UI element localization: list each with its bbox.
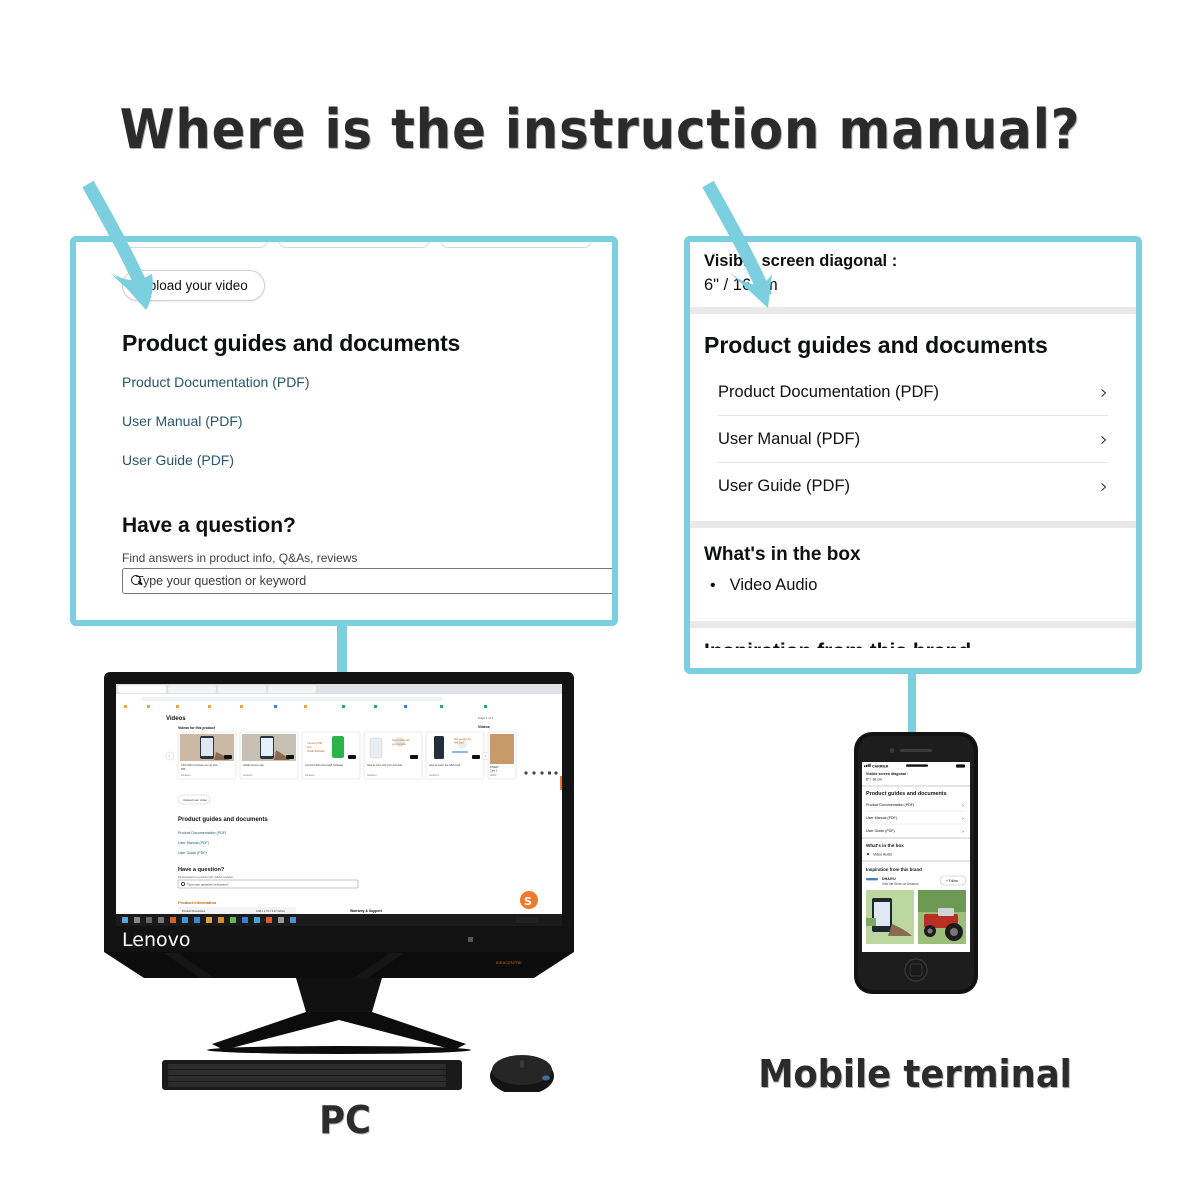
svg-text:AMAZ: AMAZ [490,774,497,777]
connector-stem-pc [337,626,347,678]
svg-text:How to insert the: How to insert the [454,738,472,741]
svg-text:User Guide (PDF): User Guide (PDF) [178,851,207,855]
svg-text:Product Documentation (PDF): Product Documentation (PDF) [178,831,226,835]
inspiration-heading-cutoff: Inspiration from this brand [690,628,1136,648]
mouse [490,1055,554,1092]
svg-text:Amazon: Amazon [429,773,439,777]
whats-in-the-box-heading: What's in the box [690,528,1136,574]
pc-link-user-guide[interactable]: User Guide (PDF) [122,452,310,468]
svg-text:Amazon: Amazon [305,773,315,777]
svg-text:DHAIYU: DHAIYU [882,877,896,881]
pc-link-product-documentation[interactable]: Product Documentation (PDF) [122,374,310,390]
chevron-right-icon: › [1100,429,1108,449]
svg-text:Upload your video: Upload your video [183,798,208,802]
svg-text:Inspiration from this brand: Inspiration from this brand [866,867,922,872]
svg-text:Wifi: Wifi [181,767,186,771]
connector-stem-mobile [908,674,916,736]
svg-text:Connect Wifi: Connect Wifi [307,741,322,745]
svg-text:Videos for this product: Videos for this product [178,726,216,730]
svg-text:Card 2: Card 2 [490,770,498,773]
svg-text:How to print with your termina: How to print with your terminal [367,763,402,767]
page-title: Where is the instruction manual? [48,98,1152,161]
svg-text:Warranty & Support: Warranty & Support [350,909,383,913]
svg-text:Connect Wifi and Install Softw: Connect Wifi and Install Software [305,763,344,767]
svg-text:Product guides and documents: Product guides and documents [866,791,947,797]
box-item-label: Video Audio [730,576,818,595]
svg-text:User Guide (PDF): User Guide (PDF) [866,829,895,833]
monitor-brand-logo: Lenovo [122,929,190,951]
whats-in-the-box-item: • Video Audio [690,574,1136,609]
svg-text:›: › [962,829,964,835]
pc-guides-heading: Product guides and documents [122,330,460,357]
have-a-question-heading: Have a question? [122,514,296,538]
svg-text:›: › [962,803,964,809]
caption-mobile: Mobile terminal [715,1052,1115,1096]
svg-text:Product Dimensions: Product Dimensions [182,909,206,913]
pc-illustration: Videos Page 1 of 3 Videos for this produ… [104,672,574,1092]
svg-text:Type your question or keyword: Type your question or keyword [187,883,228,887]
svg-text:Videos: Videos [478,725,490,729]
svg-text:S: S [524,895,532,908]
question-search-box[interactable] [122,568,616,594]
svg-text:CARRIER: CARRIER [872,764,889,768]
section-divider [690,521,1136,528]
video-card-edge [278,236,430,248]
search-icon [131,575,143,587]
mobile-row-user-guide[interactable]: User Guide (PDF) › [718,463,1108,509]
svg-text:Find answers in product info,: Find answers in product info, Q&As, revi… [178,875,233,879]
svg-text:6" / 16 cm: 6" / 16 cm [866,778,882,782]
pc-link-user-manual[interactable]: User Manual (PDF) [122,413,310,429]
mobile-row-label: User Guide (PDF) [718,477,850,496]
svg-text:Product guides and documents: Product guides and documents [178,817,268,823]
svg-text:Video Audio: Video Audio [873,852,892,856]
pc-callout-panel: Upload your video Product guides and doc… [70,236,618,626]
keyboard [162,1060,462,1090]
video-card-edge [440,236,592,248]
svg-text:Videos: Videos [166,716,186,722]
svg-text:Have a question?: Have a question? [178,867,225,873]
question-search-input[interactable] [134,573,615,589]
svg-text:SIM Card: SIM Card [454,742,464,745]
svg-text:Click Wifi to browse via net s: Click Wifi to browse via net size [181,763,218,767]
svg-text:Product information: Product information [178,900,217,905]
mobile-row-user-manual[interactable]: User Manual (PDF) › [718,416,1108,463]
svg-text:+ Follow: + Follow [946,879,959,883]
svg-text:User Manual (PDF): User Manual (PDF) [178,841,209,845]
svg-text:Amazon: Amazon [181,773,191,777]
svg-text:and: and [307,745,312,749]
section-divider [690,307,1136,314]
mobile-row-label: Product Documentation (PDF) [718,383,939,402]
mobile-callout-panel: Visible screen diagonal : 6" / 16 cm Pro… [684,236,1142,674]
svg-text:Page 1 of 3: Page 1 of 3 [478,716,494,720]
svg-text:Amazon: Amazon [367,773,377,777]
svg-text:Visible screen diagonal :: Visible screen diagonal : [866,772,908,776]
svg-text:Install Software: Install Software [307,749,325,753]
mobile-guides-heading: Product guides and documents [690,314,1136,369]
mobile-spec-block: Visible screen diagonal : 6" / 16 cm [690,242,1136,295]
svg-text:How to insert the SIM Card: How to insert the SIM Card [429,763,461,767]
svg-text:Visit the Store on Amazon: Visit the Store on Amazon [882,882,919,886]
svg-text:your terminal: your terminal [392,743,406,746]
mobile-spec-label: Visible screen diagonal : [704,252,1122,271]
svg-text:Install service app: Install service app [243,763,264,767]
svg-text:What's in the box: What's in the box [866,843,904,848]
svg-text:Amazon: Amazon [243,773,253,777]
phone-illustration: CARRIER Visible screen diagonal : 6" / 1… [848,732,984,994]
svg-text:›: › [962,816,964,822]
bullet-icon: • [710,578,716,594]
have-a-question-subtitle: Find answers in product info, Q&As, revi… [122,551,357,565]
chevron-right-icon: › [1100,382,1108,402]
section-divider [690,621,1136,628]
video-card-edges [116,236,592,248]
svg-text:User Manual (PDF): User Manual (PDF) [866,816,897,820]
pc-guides-link-list: Product Documentation (PDF) User Manual … [122,374,310,491]
svg-text:How to print with: How to print with [392,739,410,742]
svg-text:Product Documentation (PDF): Product Documentation (PDF) [866,803,914,807]
svg-text:IDEACENTRE: IDEACENTRE [496,960,522,965]
chevron-right-icon: › [1100,476,1108,496]
mobile-row-label: User Manual (PDF) [718,430,860,449]
video-card-edge [116,236,268,248]
mobile-row-product-documentation[interactable]: Product Documentation (PDF) › [718,369,1108,416]
upload-your-video-button[interactable]: Upload your video [122,270,265,301]
caption-pc: PC [24,1098,666,1142]
svg-text:0.98 x 1.73 x 3.17 inches: 0.98 x 1.73 x 3.17 inches [256,909,286,913]
mobile-spec-value: 6" / 16 cm [704,276,1122,295]
